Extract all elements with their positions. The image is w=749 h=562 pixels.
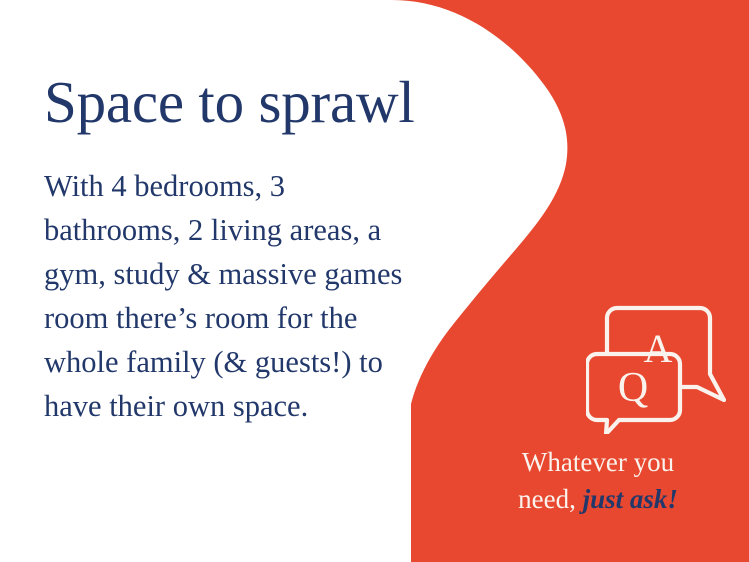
body-line: room there’s room for the — [44, 296, 474, 340]
tagline-line-2: need, just ask! — [466, 481, 730, 518]
body-line: With 4 bedrooms, 3 — [44, 164, 474, 208]
body-line: bathrooms, 2 living areas, a — [44, 208, 474, 252]
page-title: Space to sprawl — [44, 72, 474, 132]
body-line: have their own space. — [44, 384, 474, 428]
body-line: gym, study & massive games — [44, 252, 474, 296]
promo-slide: Space to sprawl With 4 bedrooms, 3 bathr… — [0, 0, 749, 562]
qa-speech-bubbles-icon: A Q — [586, 300, 726, 434]
text-block: Space to sprawl With 4 bedrooms, 3 bathr… — [44, 72, 474, 428]
tagline-prefix: need, — [518, 484, 576, 514]
question-letter: Q — [618, 365, 648, 411]
tagline-line-1: Whatever you — [466, 444, 730, 481]
body-copy: With 4 bedrooms, 3 bathrooms, 2 living a… — [44, 164, 474, 428]
tagline-accent: just ask! — [583, 484, 678, 514]
body-line: whole family (& guests!) to — [44, 340, 474, 384]
tagline: Whatever you need, just ask! — [466, 444, 730, 518]
